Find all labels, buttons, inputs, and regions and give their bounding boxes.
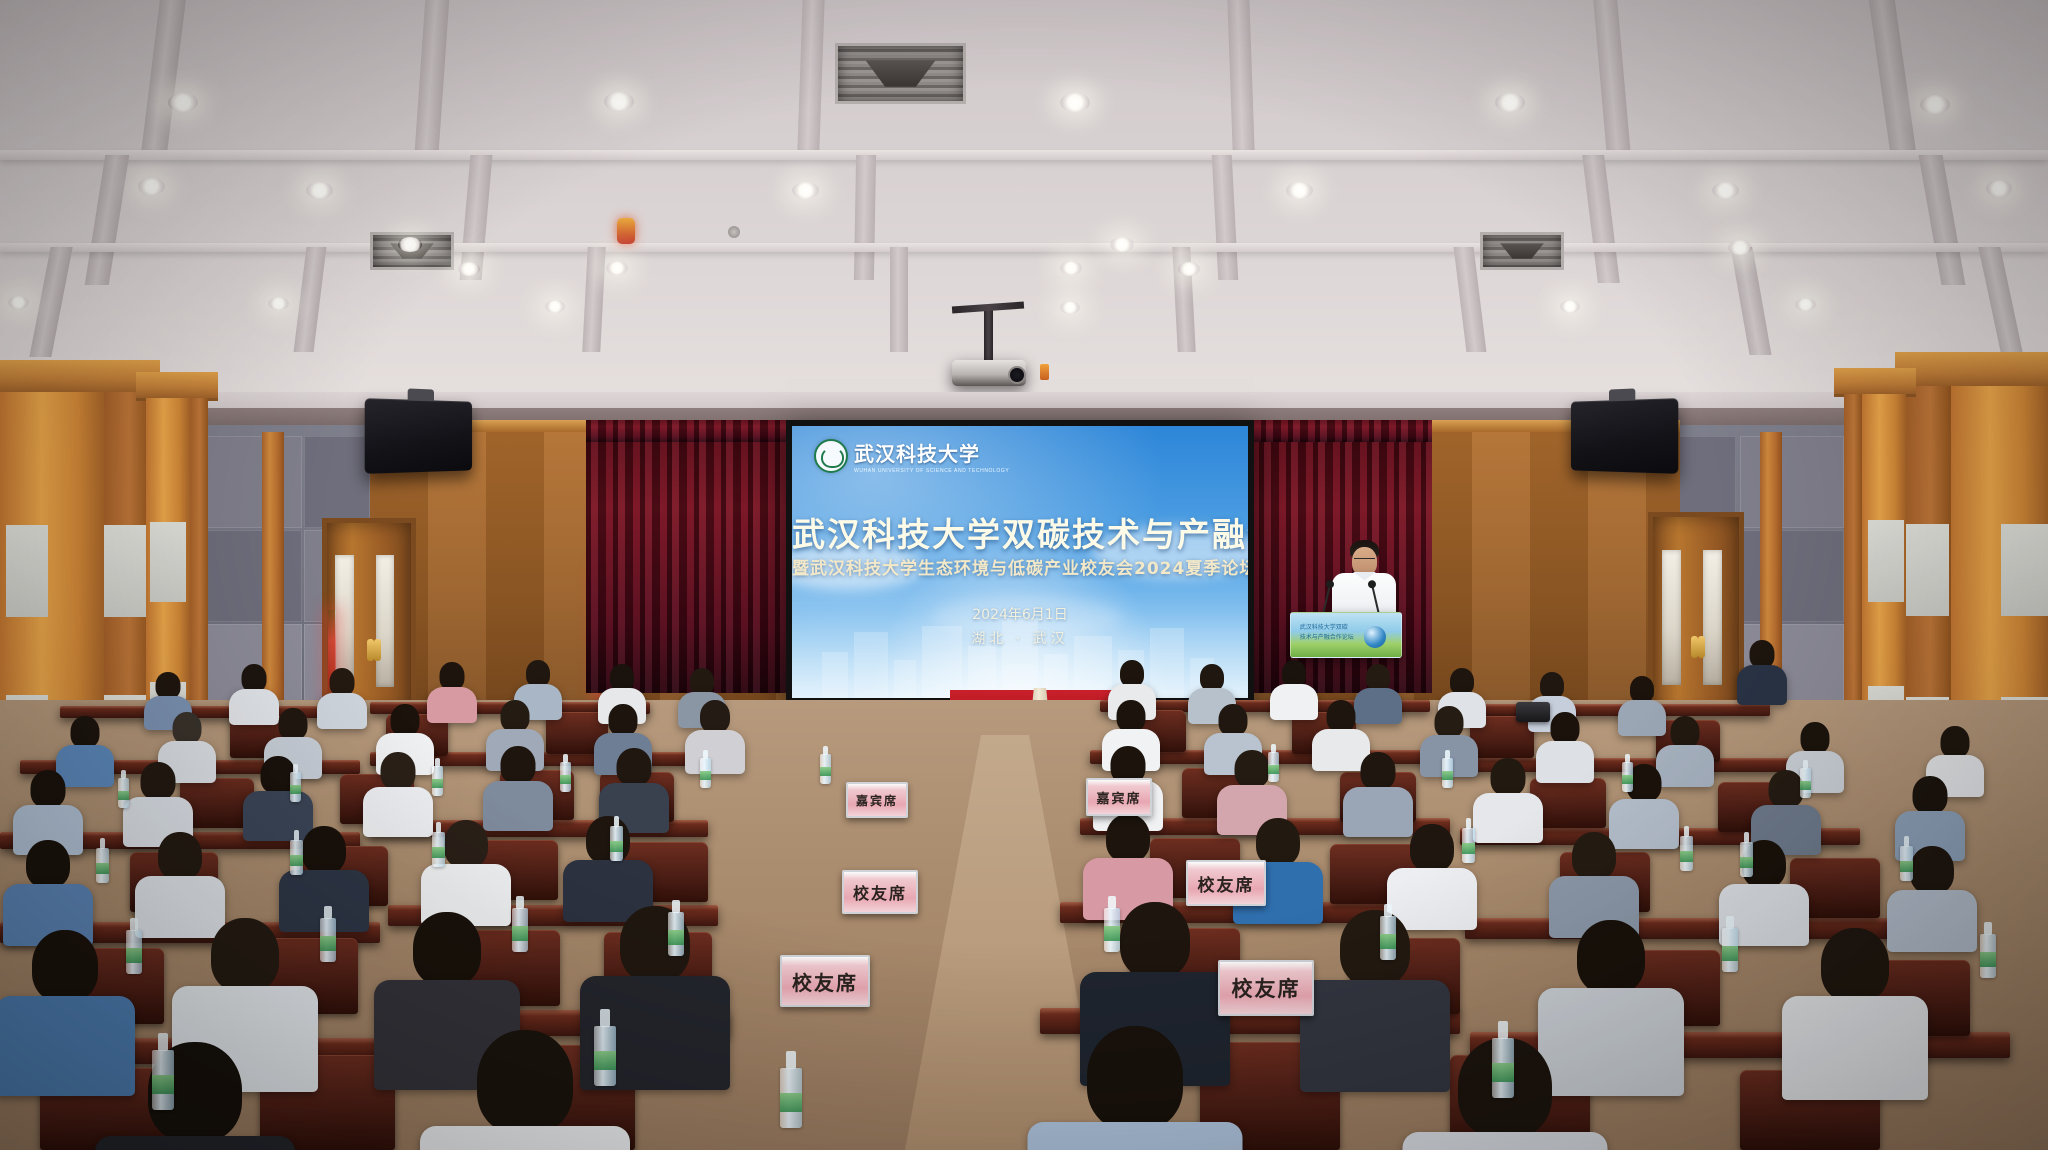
seating-sign-alumni-right-2: 校友席 — [1218, 960, 1314, 1016]
seating-sign-alumni-right-1: 校友席 — [1186, 860, 1266, 906]
university-logo: 武汉科技大学 WUHAN UNIVERSITY OF SCIENCE AND T… — [814, 438, 1009, 474]
speaker-person — [1326, 540, 1402, 680]
seating-sign-alumni-left-2: 校友席 — [780, 955, 870, 1007]
smoke-detector-icon — [728, 226, 740, 238]
seating-sign-guest-left: 嘉宾席 — [846, 782, 908, 818]
screen-subtitle: 暨武汉科技大学生态环境与低碳产业校友会2024夏季论坛 — [792, 554, 1248, 579]
wall-speaker-right — [1571, 398, 1678, 474]
photographer-camera-icon — [1516, 702, 1550, 722]
seating-sign-alumni-left-1: 校友席 — [842, 870, 918, 914]
projector-cable — [1040, 364, 1049, 380]
screen-content: 武汉科技大学 WUHAN UNIVERSITY OF SCIENCE AND T… — [792, 426, 1248, 698]
fire-alarm-icon — [617, 218, 635, 244]
ceiling-air-vent-right — [1480, 232, 1564, 270]
lectern-banner-line2: 技术与产融合作论坛 — [1300, 633, 1354, 642]
lectern-banner-line1: 武汉科技大学双碳 — [1300, 623, 1348, 632]
wall-speaker-left — [365, 398, 472, 474]
projection-screen: 武汉科技大学 WUHAN UNIVERSITY OF SCIENCE AND T… — [786, 420, 1254, 704]
conference-hall-photo: 武汉科技大学 WUHAN UNIVERSITY OF SCIENCE AND T… — [0, 0, 2048, 1150]
projector-mount — [984, 306, 993, 362]
screen-location: 湖北 · 武汉 — [792, 628, 1248, 648]
stage-curtain-left — [586, 428, 796, 693]
speaker-glasses-icon — [1354, 558, 1375, 564]
screen-main-title: 武汉科技大学双碳技术与产融合作论坛 — [792, 508, 1248, 556]
screen-date: 2024年6月1日 — [792, 604, 1248, 624]
ceiling-air-vent — [835, 43, 966, 104]
ceiling — [0, 0, 2048, 420]
logo-english-name: WUHAN UNIVERSITY OF SCIENCE AND TECHNOLO… — [854, 468, 1009, 474]
lectern: 武汉科技大学双碳 技术与产融合作论坛 — [1290, 612, 1402, 658]
university-crest-icon — [814, 439, 848, 473]
projector-lens-icon — [1008, 366, 1026, 384]
logo-chinese-name: 武汉科技大学 — [854, 438, 1009, 467]
lectern-globe-icon — [1364, 626, 1386, 648]
seating-sign-guest-right: 嘉宾席 — [1086, 778, 1152, 816]
pillar-right — [1844, 368, 1906, 738]
